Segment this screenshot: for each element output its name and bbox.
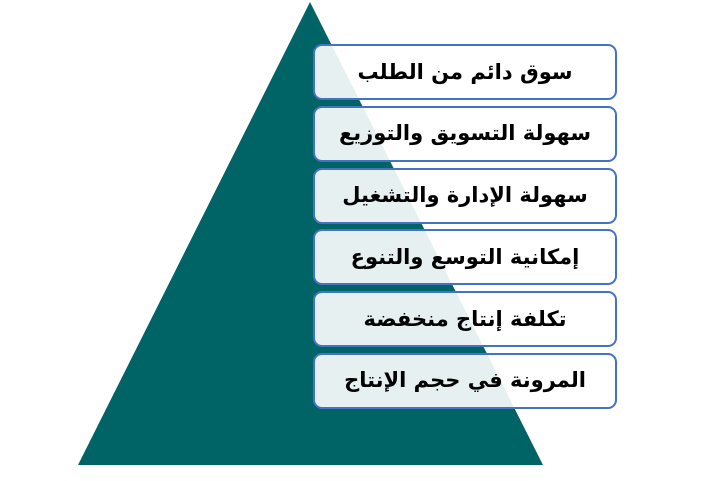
pyramid-level-1[interactable]: سوق دائم من الطلب [313, 44, 617, 100]
pyramid-level-4-label: إمكانية التوسع والتنوع [351, 247, 580, 268]
pyramid-level-list: سوق دائم من الطلب سهولة التسويق والتوزيع… [313, 44, 617, 409]
diagram-canvas: سوق دائم من الطلب سهولة التسويق والتوزيع… [0, 0, 724, 481]
pyramid-level-3-label: سهولة الإدارة والتشغيل [342, 185, 587, 206]
pyramid-level-2[interactable]: سهولة التسويق والتوزيع [313, 106, 617, 162]
pyramid-level-6-label: المرونة في حجم الإنتاج [344, 370, 586, 391]
pyramid-level-5[interactable]: تكلفة إنتاج منخفضة [313, 291, 617, 347]
pyramid-level-6[interactable]: المرونة في حجم الإنتاج [313, 353, 617, 409]
pyramid-level-1-label: سوق دائم من الطلب [357, 62, 572, 83]
pyramid-level-5-label: تكلفة إنتاج منخفضة [363, 309, 566, 330]
pyramid-level-3[interactable]: سهولة الإدارة والتشغيل [313, 168, 617, 224]
pyramid-level-2-label: سهولة التسويق والتوزيع [339, 123, 591, 144]
pyramid-level-4[interactable]: إمكانية التوسع والتنوع [313, 229, 617, 285]
